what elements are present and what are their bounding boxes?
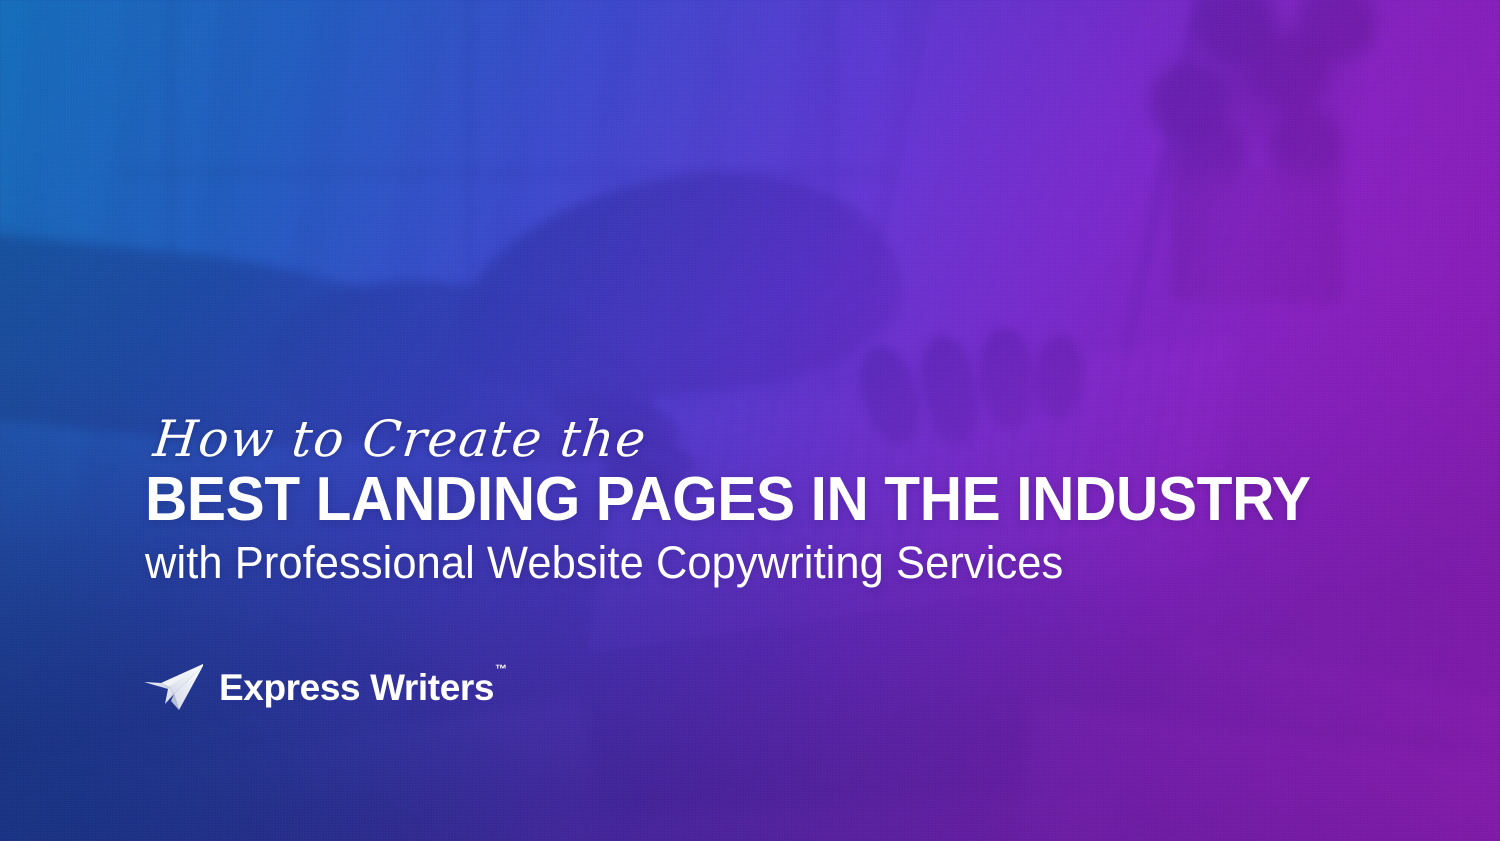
- logo-wordmark: Express Writers™: [219, 669, 506, 706]
- paper-airplane-icon: [143, 661, 205, 713]
- page-title: BEST LANDING PAGES IN THE INDUSTRY: [145, 469, 1326, 531]
- eyebrow-script-line: How to Create the: [151, 414, 1400, 465]
- logo-name-text: Express Writers: [219, 667, 494, 708]
- page-subtitle: with Professional Website Copywriting Se…: [145, 539, 1351, 588]
- trademark-symbol: ™: [495, 662, 507, 676]
- hero-banner: How to Create the BEST LANDING PAGES IN …: [0, 0, 1500, 841]
- title-block: How to Create the BEST LANDING PAGES IN …: [145, 414, 1395, 588]
- brand-logo[interactable]: Express Writers™: [143, 661, 506, 713]
